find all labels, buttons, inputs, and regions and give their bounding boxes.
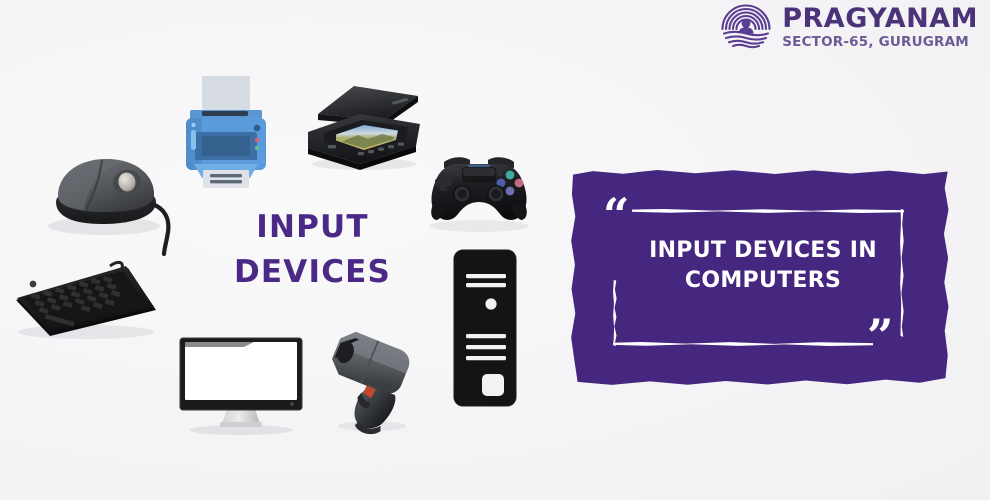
device-image-printer <box>172 72 280 190</box>
slide-canvas: PRAGYANAM SECTOR-65, GURUGRAM INPUT DEVI… <box>0 0 990 500</box>
device-image-mouse <box>42 146 172 256</box>
monitor-icon <box>176 334 306 434</box>
open-quote-icon: “ <box>603 192 629 238</box>
gamepad-icon <box>418 148 540 234</box>
page-title-line2: DEVICES <box>205 250 420 295</box>
page-title-line1: INPUT <box>256 209 369 245</box>
quote-title-line1: INPUT DEVICES IN <box>649 238 877 263</box>
page-title: INPUT DEVICES <box>205 205 420 295</box>
device-image-gamepad <box>418 148 540 234</box>
quote-title: INPUT DEVICES IN COMPUTERS <box>618 236 908 297</box>
printer-icon <box>172 72 280 190</box>
device-image-barcode-scanner <box>316 330 420 434</box>
brand-logo: PRAGYANAM SECTOR-65, GURUGRAM <box>718 2 978 52</box>
keyboard-icon <box>10 262 160 342</box>
barcode-scanner-icon <box>316 330 420 434</box>
quote-panel: “ ” INPUT DEVICES IN COMPUTERS <box>570 168 950 388</box>
device-image-keyboard <box>10 262 160 342</box>
close-quote-icon: ” <box>867 313 893 359</box>
brand-text-block: PRAGYANAM SECTOR-65, GURUGRAM <box>782 5 978 50</box>
quote-frame-top-line <box>632 209 904 213</box>
device-image-cpu-tower <box>440 246 536 416</box>
computer-mouse-icon <box>42 146 172 256</box>
pragyanam-sunrise-fingerprint-logo-icon <box>718 2 774 52</box>
device-image-scanner <box>298 82 422 172</box>
device-image-monitor <box>176 334 306 434</box>
brand-name: PRAGYANAM <box>782 5 978 32</box>
cpu-tower-icon <box>440 246 536 416</box>
flatbed-scanner-icon <box>298 82 422 172</box>
brand-tagline: SECTOR-65, GURUGRAM <box>782 36 969 50</box>
quote-title-line2: COMPUTERS <box>685 268 841 293</box>
